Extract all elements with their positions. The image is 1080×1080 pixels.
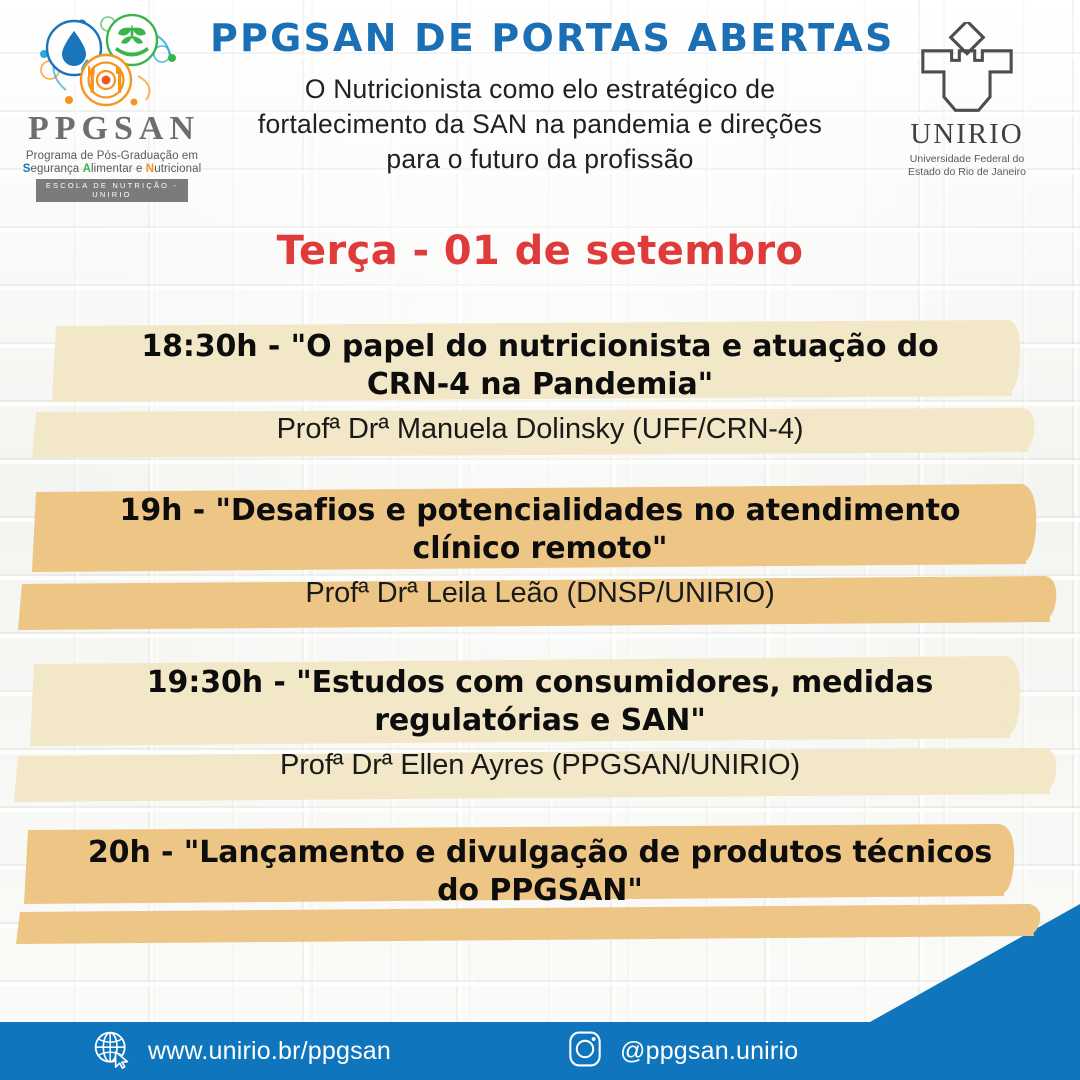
tagline-n: N	[146, 163, 154, 175]
ppgsan-school-ribbon: ESCOLA DE NUTRIÇÃO - UNIRIO	[36, 179, 188, 202]
ppgsan-tagline-line2: Segurança Alimentar e Nutricional	[14, 163, 210, 175]
poster-header: PPGSAN Programa de Pós-Graduação em Segu…	[0, 0, 1080, 200]
subtitle-line-3: para o futuro da profissão	[210, 142, 870, 177]
session-item: 20h - "Lançamento e divulgação de produt…	[0, 820, 1080, 950]
unirio-subtitle: Universidade Federal do Estado do Rio de…	[882, 153, 1052, 179]
session-2-text: 19h - "Desafios e potencialidades no ate…	[0, 478, 1080, 612]
event-poster: PPGSAN Programa de Pós-Graduação em Segu…	[0, 0, 1080, 1080]
session-item: 19h - "Desafios e potencialidades no ate…	[0, 478, 1080, 648]
ppgsan-logo-icons	[22, 14, 202, 110]
session-1-title-line-2: CRN-4 na Pandemia"	[0, 366, 1080, 404]
session-item: 19:30h - "Estudos com consumidores, medi…	[0, 648, 1080, 820]
session-2-title-line-1: 19h - "Desafios e potencialidades no ate…	[0, 492, 1080, 530]
subtitle-line-1: O Nutricionista como elo estratégico de	[210, 72, 870, 107]
title-block: PPGSAN DE PORTAS ABERTAS O Nutricionista…	[210, 18, 870, 177]
website-label: www.unirio.br/ppgsan	[148, 1037, 391, 1066]
tagline-limentar: limentar e	[91, 163, 146, 175]
session-4-title-line-2: do PPGSAN"	[0, 872, 1080, 910]
session-2-title-line-2: clínico remoto"	[0, 530, 1080, 568]
poster-footer: www.unirio.br/ppgsan @ppgsan.unirio	[0, 1022, 1080, 1080]
session-1-text: 18:30h - "O papel do nutricionista e atu…	[0, 312, 1080, 448]
session-item: 18:30h - "O papel do nutricionista e atu…	[0, 312, 1080, 478]
date-heading: Terça - 01 de setembro	[0, 228, 1080, 274]
session-3-text: 19:30h - "Estudos com consumidores, medi…	[0, 648, 1080, 784]
unirio-sub-line-1: Universidade Federal do	[882, 153, 1052, 166]
instagram-icon	[566, 1030, 604, 1073]
session-1-title-line-1: 18:30h - "O papel do nutricionista e atu…	[0, 328, 1080, 366]
unirio-name: UNIRIO	[882, 120, 1052, 149]
ppgsan-tagline-line1: Programa de Pós-Graduação em	[14, 150, 210, 162]
tagline-eguranca: egurança	[31, 163, 83, 175]
session-2-speaker: Profª Drª Leila Leão (DNSP/UNIRIO)	[0, 575, 1080, 613]
sessions-list: 18:30h - "O papel do nutricionista e atu…	[0, 312, 1080, 950]
tagline-s: S	[23, 163, 31, 175]
tagline-a: A	[83, 163, 91, 175]
poster-subtitle: O Nutricionista como elo estratégico de …	[210, 72, 870, 177]
globe-cursor-icon	[92, 1029, 132, 1074]
session-3-title-line-1: 19:30h - "Estudos com consumidores, medi…	[0, 664, 1080, 702]
session-3-title-line-2: regulatórias e SAN"	[0, 702, 1080, 740]
session-4-text: 20h - "Lançamento e divulgação de produt…	[0, 820, 1080, 911]
session-1-speaker: Profª Drª Manuela Dolinsky (UFF/CRN-4)	[0, 411, 1080, 449]
poster-main-title: PPGSAN DE PORTAS ABERTAS	[210, 18, 870, 60]
unirio-sub-line-2: Estado do Rio de Janeiro	[882, 166, 1052, 179]
instagram-link[interactable]: @ppgsan.unirio	[566, 1030, 798, 1073]
unirio-emblem-icon	[882, 22, 1052, 118]
website-link[interactable]: www.unirio.br/ppgsan	[92, 1029, 391, 1074]
ppgsan-logo: PPGSAN Programa de Pós-Graduação em Segu…	[14, 14, 210, 194]
instagram-label: @ppgsan.unirio	[620, 1037, 798, 1066]
ppgsan-wordmark: PPGSAN	[18, 112, 210, 146]
subtitle-line-2: fortalecimento da SAN na pandemia e dire…	[210, 107, 870, 142]
session-3-speaker: Profª Drª Ellen Ayres (PPGSAN/UNIRIO)	[0, 747, 1080, 785]
unirio-logo: UNIRIO Universidade Federal do Estado do…	[882, 22, 1052, 179]
ppgsan-icon-cluster	[22, 14, 202, 110]
session-4-title-line-1: 20h - "Lançamento e divulgação de produt…	[0, 834, 1080, 872]
tagline-utricional: utricional	[154, 163, 201, 175]
